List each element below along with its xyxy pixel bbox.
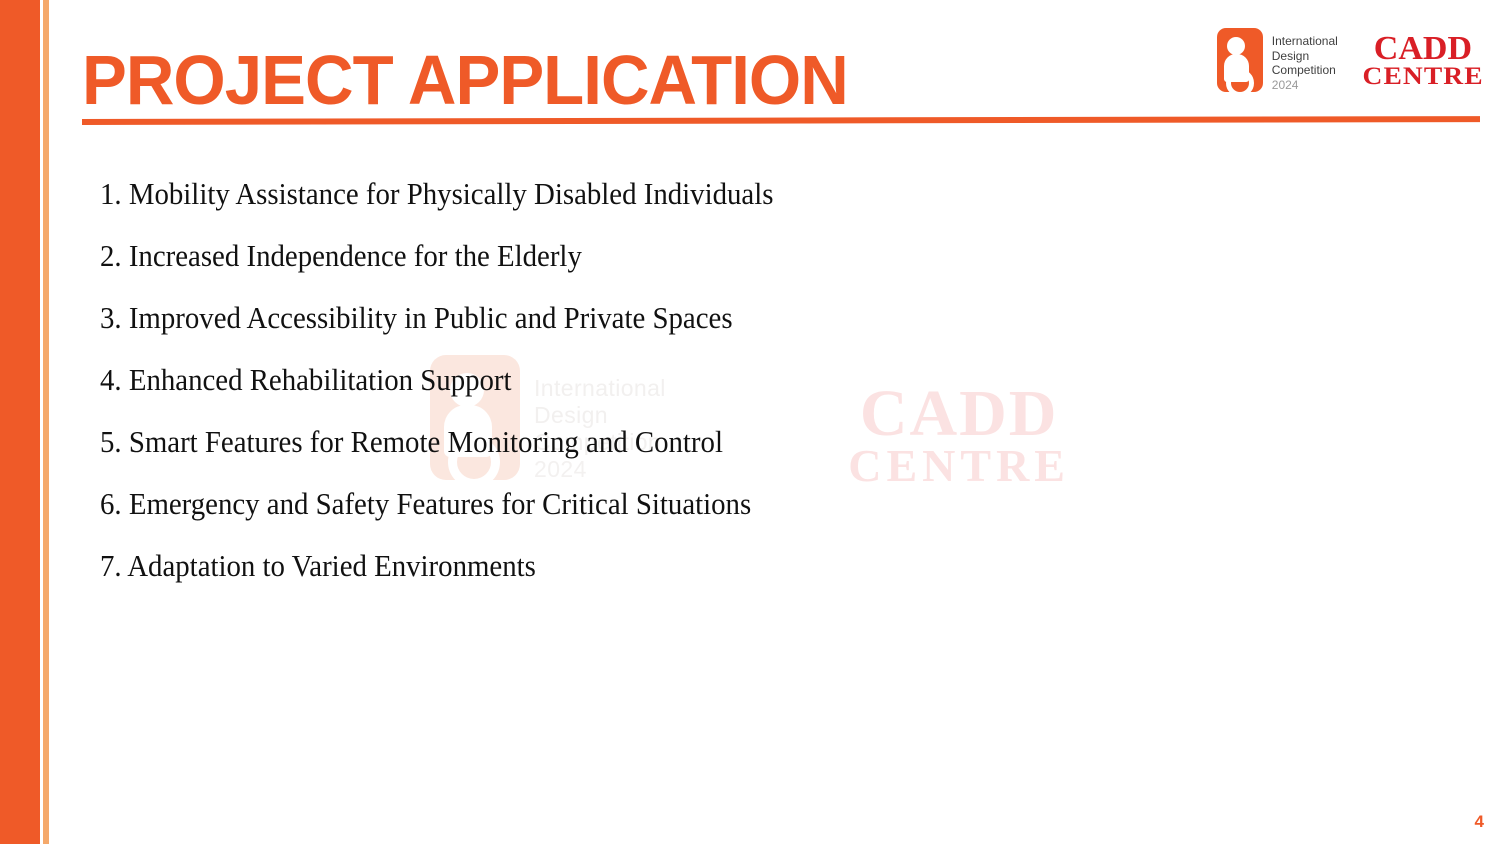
left-accent-stripe bbox=[43, 0, 49, 844]
list-item: 5. Smart Features for Remote Monitoring … bbox=[100, 411, 1030, 473]
slide-canvas: International Design Competition 2024 CA… bbox=[0, 0, 1500, 844]
page-title: PROJECT APPLICATION bbox=[82, 42, 848, 118]
header-logo-group: International Design Competition 2024 CA… bbox=[1217, 28, 1478, 92]
list-item: 3. Improved Accessibility in Public and … bbox=[100, 287, 1030, 349]
cadd-logo-line1: CADD bbox=[1368, 32, 1478, 66]
list-item: 6. Emergency and Safety Features for Cri… bbox=[100, 473, 1030, 535]
list-item: 7. Adaptation to Varied Environments bbox=[100, 535, 1030, 597]
idc-line1: International bbox=[1272, 34, 1338, 49]
wheelchair-wheel-shape bbox=[1226, 69, 1254, 97]
slide-page-number: 4 bbox=[1475, 812, 1484, 832]
left-accent-bar bbox=[0, 0, 40, 844]
idc-line2: Design bbox=[1272, 49, 1338, 64]
cadd-centre-logo: CADD CENTRE bbox=[1368, 32, 1478, 89]
seated-figure-icon bbox=[1217, 28, 1263, 92]
list-item: 4. Enhanced Rehabilitation Support bbox=[100, 349, 1030, 411]
cadd-logo-line2: CENTRE bbox=[1362, 64, 1483, 89]
figure-head-shape bbox=[1227, 37, 1245, 55]
idc-line3: Competition bbox=[1272, 63, 1338, 78]
list-item: 2. Increased Independence for the Elderl… bbox=[100, 225, 1030, 287]
idc-logo: International Design Competition 2024 bbox=[1217, 28, 1338, 92]
application-list: 1. Mobility Assistance for Physically Di… bbox=[100, 163, 1100, 597]
idc-year: 2024 bbox=[1272, 78, 1338, 93]
list-item: 1. Mobility Assistance for Physically Di… bbox=[100, 163, 1030, 225]
idc-logo-text: International Design Competition 2024 bbox=[1272, 34, 1338, 92]
